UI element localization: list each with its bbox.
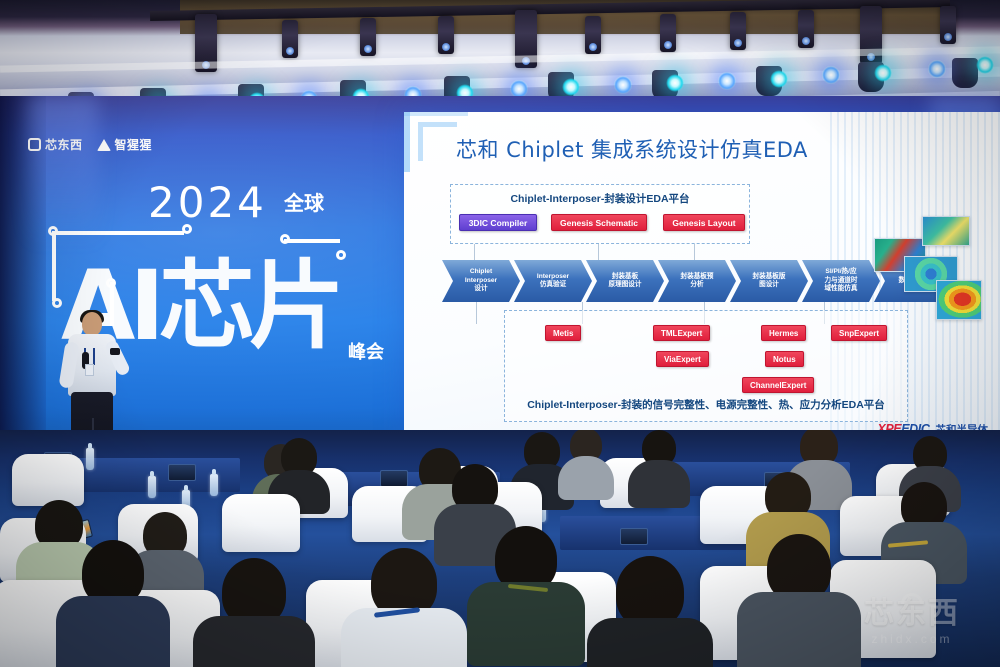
person-body xyxy=(193,616,315,667)
light-lamp-glow xyxy=(718,72,736,90)
audience-person xyxy=(590,556,710,667)
laptop xyxy=(620,528,648,545)
connector-line xyxy=(694,244,695,260)
flow-step-label: 封装基板预 分析 xyxy=(681,273,714,290)
design-platform-box: Chiplet-Interposer-封装设计EDA平台 3DIC Compil… xyxy=(450,184,750,244)
person-body xyxy=(56,596,170,667)
flow-step-interposer-simulation[interactable]: Interposer 仿真验证 xyxy=(514,260,592,302)
audience-person xyxy=(628,430,690,506)
person-body xyxy=(587,618,713,667)
moving-head-light xyxy=(730,12,746,50)
tool-chip-channelexpert[interactable]: ChannelExpert xyxy=(742,377,814,393)
tool-pill-3dic-compiler[interactable]: 3DIC Compiler xyxy=(459,214,537,231)
presenter-head xyxy=(82,312,102,336)
circuit-node-icon xyxy=(336,250,346,260)
moving-head-light xyxy=(282,20,298,58)
circuit-trace xyxy=(284,239,340,243)
tool-chip-metis[interactable]: Metis xyxy=(545,325,581,341)
person-body xyxy=(628,460,690,508)
tool-chip-hermes[interactable]: Hermes xyxy=(761,325,806,341)
audience-person xyxy=(196,558,312,667)
flow-step-label: SI/PI/热/应 力与通道时 域性能仿真 xyxy=(825,268,858,293)
analysis-platform-caption: Chiplet-Interposer-封装的信号完整性、电源完整性、热、应力分析… xyxy=(505,397,907,412)
circuit-trace xyxy=(52,231,56,301)
projection-slide: 芯和 Chiplet 集成系统设计仿真EDA Chiplet-Interpose… xyxy=(404,112,1000,452)
light-lamp-glow xyxy=(874,64,892,82)
flow-step-substrate-schematic[interactable]: 封装基板 原理图设计 xyxy=(586,260,664,302)
flow-step-chiplet-interposer-design[interactable]: Chiplet Interposer 设计 xyxy=(442,260,520,302)
chip-logo-icon xyxy=(28,138,41,151)
watermark-site: zhidx.com xyxy=(836,632,988,646)
audience-person xyxy=(558,430,614,498)
light-lamp-glow xyxy=(822,66,840,84)
water-bottle xyxy=(86,448,94,470)
flow-step-label: 封装基板版 图设计 xyxy=(753,273,786,290)
brand-zhidongxi-label: 芯东西 xyxy=(45,136,83,153)
tool-pill-genesis-schematic[interactable]: Genesis Schematic xyxy=(551,214,647,231)
moving-head-light xyxy=(798,10,814,48)
tool-chip-snpexpert[interactable]: SnpExpert xyxy=(831,325,887,341)
light-lamp-glow xyxy=(666,74,684,92)
backdrop-brand-row: 芯东西 智猩猩 xyxy=(28,136,152,153)
connector-line xyxy=(476,302,477,324)
brand-zhixingxing-label: 智猩猩 xyxy=(115,136,153,153)
stage-wash-light xyxy=(952,58,978,88)
package-layout-thumb xyxy=(922,216,970,246)
tool-chip-notus[interactable]: Notus xyxy=(765,351,804,367)
brand-zhidongxi: 芯东西 xyxy=(28,136,83,153)
water-bottle xyxy=(210,474,218,496)
flow-step-label: Chiplet Interposer 设计 xyxy=(465,268,497,293)
audience-chair xyxy=(222,494,300,552)
moving-head-light xyxy=(660,14,676,52)
flow-step-label: Interposer 仿真验证 xyxy=(537,273,569,290)
light-lamp-glow xyxy=(976,56,994,74)
audience-person xyxy=(344,548,464,667)
presenter-badge xyxy=(85,364,94,376)
slide-title: 芯和 Chiplet 集成系统设计仿真EDA xyxy=(456,134,808,164)
tool-chip-viaexpert[interactable]: ViaExpert xyxy=(656,351,709,367)
person-body xyxy=(558,456,614,500)
light-lamp-glow xyxy=(928,60,946,78)
circuit-trace xyxy=(54,231,184,235)
design-platform-heading: Chiplet-Interposer-封装设计EDA平台 xyxy=(451,191,749,206)
water-bottle xyxy=(148,476,156,498)
photo-scene: 芯东西 智猩猩 2024 全球 AI芯片 峰会 新 纪 元 · 共 筑 芯 路 xyxy=(0,0,1000,667)
light-lamp-glow xyxy=(562,78,580,96)
brand-zhixingxing: 智猩猩 xyxy=(97,136,153,153)
flow-step-si-pi-thermal-sim[interactable]: SI/PI/热/应 力与通道时 域性能仿真 xyxy=(802,260,880,302)
design-platform-pill-row: 3DIC Compiler Genesis Schematic Genesis … xyxy=(451,214,749,234)
moving-head-light xyxy=(940,6,956,44)
thermal-map-thumb xyxy=(936,280,982,320)
connector-line xyxy=(598,244,599,260)
flow-step-substrate-preanalysis[interactable]: 封装基板预 分析 xyxy=(658,260,736,302)
person-body xyxy=(341,608,467,667)
moving-head-light xyxy=(438,16,454,54)
light-lamp-glow xyxy=(614,76,632,94)
summit-year: 2024 xyxy=(148,178,267,227)
tool-chip-tmlexpert[interactable]: TMLExpert xyxy=(653,325,710,341)
triangle-logo-icon xyxy=(97,139,111,151)
flow-step-label: 封装基板 原理图设计 xyxy=(609,273,642,290)
simulation-result-thumbnails xyxy=(874,216,994,326)
summit-summit-word: 峰会 xyxy=(348,343,384,363)
moving-head-light xyxy=(585,16,601,54)
presentation-clicker xyxy=(110,348,120,355)
laptop xyxy=(168,464,196,481)
summit-global-word: 全球 xyxy=(284,194,324,215)
ceiling-beam xyxy=(0,46,1000,72)
light-lamp-glow xyxy=(770,70,788,88)
audience-person xyxy=(58,540,168,667)
connector-line xyxy=(474,244,475,260)
audience-person xyxy=(470,526,582,654)
audience-chair xyxy=(12,454,84,506)
moving-head-light xyxy=(360,18,376,56)
site-watermark: 芯东西 zhidx.com xyxy=(836,599,988,661)
analysis-platform-box: Metis TMLExpert ViaExpert Hermes Notus C… xyxy=(504,310,908,422)
person-body xyxy=(467,582,585,666)
tool-pill-genesis-layout[interactable]: Genesis Layout xyxy=(663,214,745,231)
flow-step-substrate-layout[interactable]: 封装基板版 图设计 xyxy=(730,260,808,302)
